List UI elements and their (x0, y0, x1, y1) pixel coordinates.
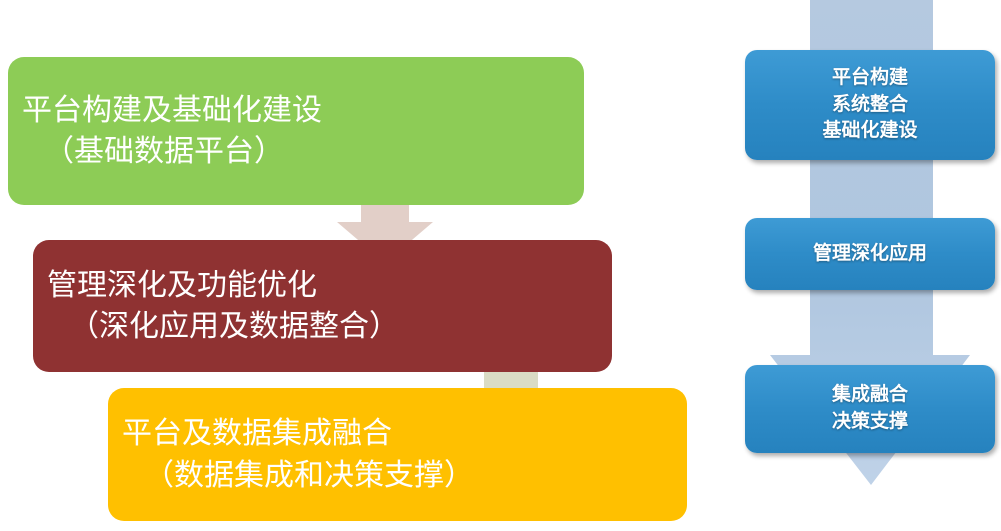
milestone-box-platform-build[interactable]: 平台构建 系统整合 基础化建设 (745, 50, 995, 160)
milestone-line: 决策支撑 (832, 409, 908, 436)
stage-line-primary: 管理深化及功能优化 (47, 265, 612, 306)
stage-box-platform-foundation[interactable]: 平台构建及基础化建设 （基础数据平台） (8, 57, 584, 205)
diagram-canvas: 平台构建及基础化建设 （基础数据平台） 管理深化及功能优化 （深化应用及数据整合… (0, 0, 1001, 531)
stage-box-data-integration[interactable]: 平台及数据集成融合 （数据集成和决策支撑） (108, 388, 687, 521)
stage-line-secondary: （基础数据平台） (22, 131, 584, 172)
milestone-line: 管理深化应用 (813, 241, 927, 268)
stage-line-secondary: （数据集成和决策支撑） (122, 455, 687, 496)
milestone-box-management-application[interactable]: 管理深化应用 (745, 218, 995, 290)
milestone-line: 基础化建设 (822, 118, 917, 145)
milestone-box-integration-decision[interactable]: 集成融合 决策支撑 (745, 365, 995, 453)
stage-line-secondary: （深化应用及数据整合） (47, 306, 612, 347)
stage-line-primary: 平台及数据集成融合 (122, 413, 687, 454)
stage-line-primary: 平台构建及基础化建设 (22, 90, 584, 131)
milestone-line: 集成融合 (832, 382, 908, 409)
stage-box-management-deepening[interactable]: 管理深化及功能优化 （深化应用及数据整合） (33, 240, 612, 372)
milestone-line: 系统整合 (832, 92, 908, 119)
milestone-line: 平台构建 (832, 65, 908, 92)
